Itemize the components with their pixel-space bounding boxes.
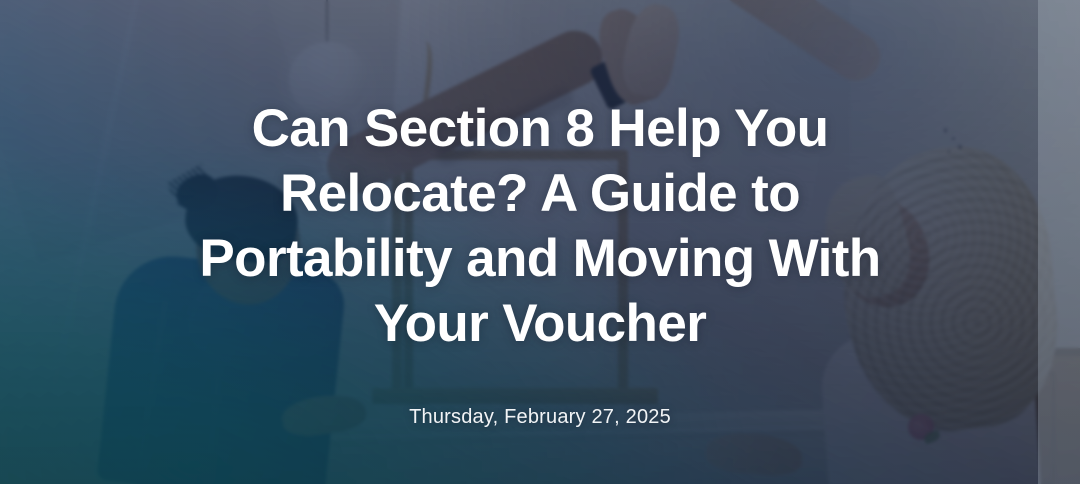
article-hero-banner: Can Section 8 Help You Relocate? A Guide… [0, 0, 1080, 484]
page-title: Can Section 8 Help You Relocate? A Guide… [160, 96, 920, 356]
hero-content: Can Section 8 Help You Relocate? A Guide… [0, 0, 1080, 484]
publish-date: Thursday, February 27, 2025 [409, 406, 671, 429]
